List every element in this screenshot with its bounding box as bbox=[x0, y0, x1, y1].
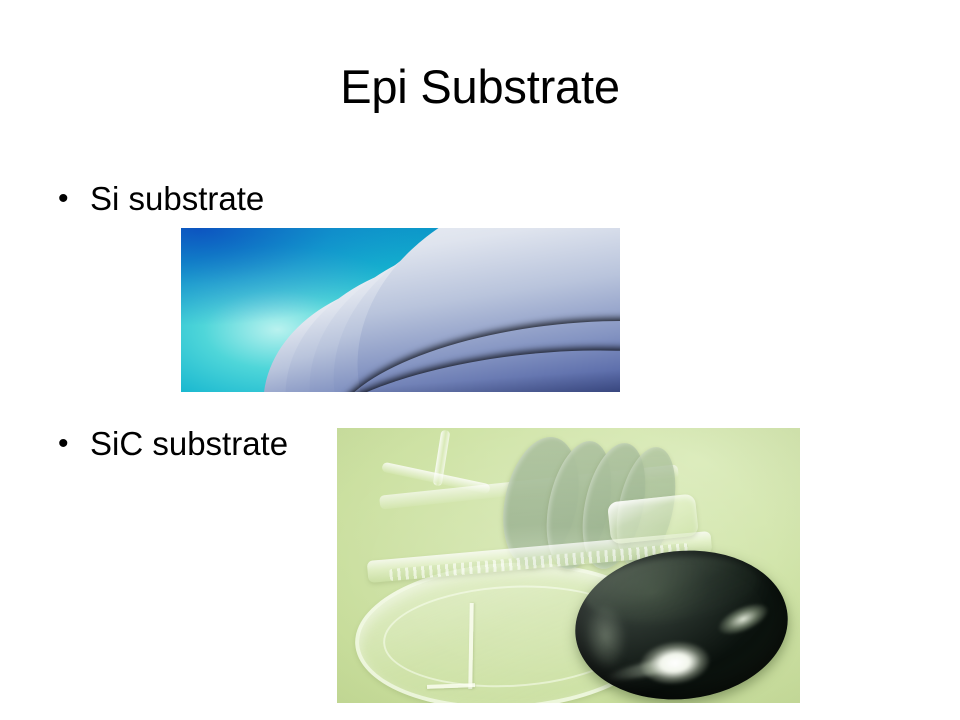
bullet-marker-icon: • bbox=[58, 176, 90, 222]
bullet-label-si-substrate: Si substrate bbox=[90, 176, 264, 222]
slide-canvas: Epi Substrate • Si substrate bbox=[0, 0, 960, 720]
sic-substrate-image bbox=[337, 428, 800, 703]
bullet-item-si-substrate: • Si substrate bbox=[58, 176, 264, 222]
sic-image-vignette bbox=[337, 428, 800, 703]
page-title: Epi Substrate bbox=[0, 58, 960, 116]
bullet-item-sic-substrate: • SiC substrate bbox=[58, 421, 288, 467]
si-substrate-image bbox=[181, 228, 620, 392]
bullet-label-sic-substrate: SiC substrate bbox=[90, 421, 288, 467]
bullet-marker-icon: • bbox=[58, 421, 90, 467]
